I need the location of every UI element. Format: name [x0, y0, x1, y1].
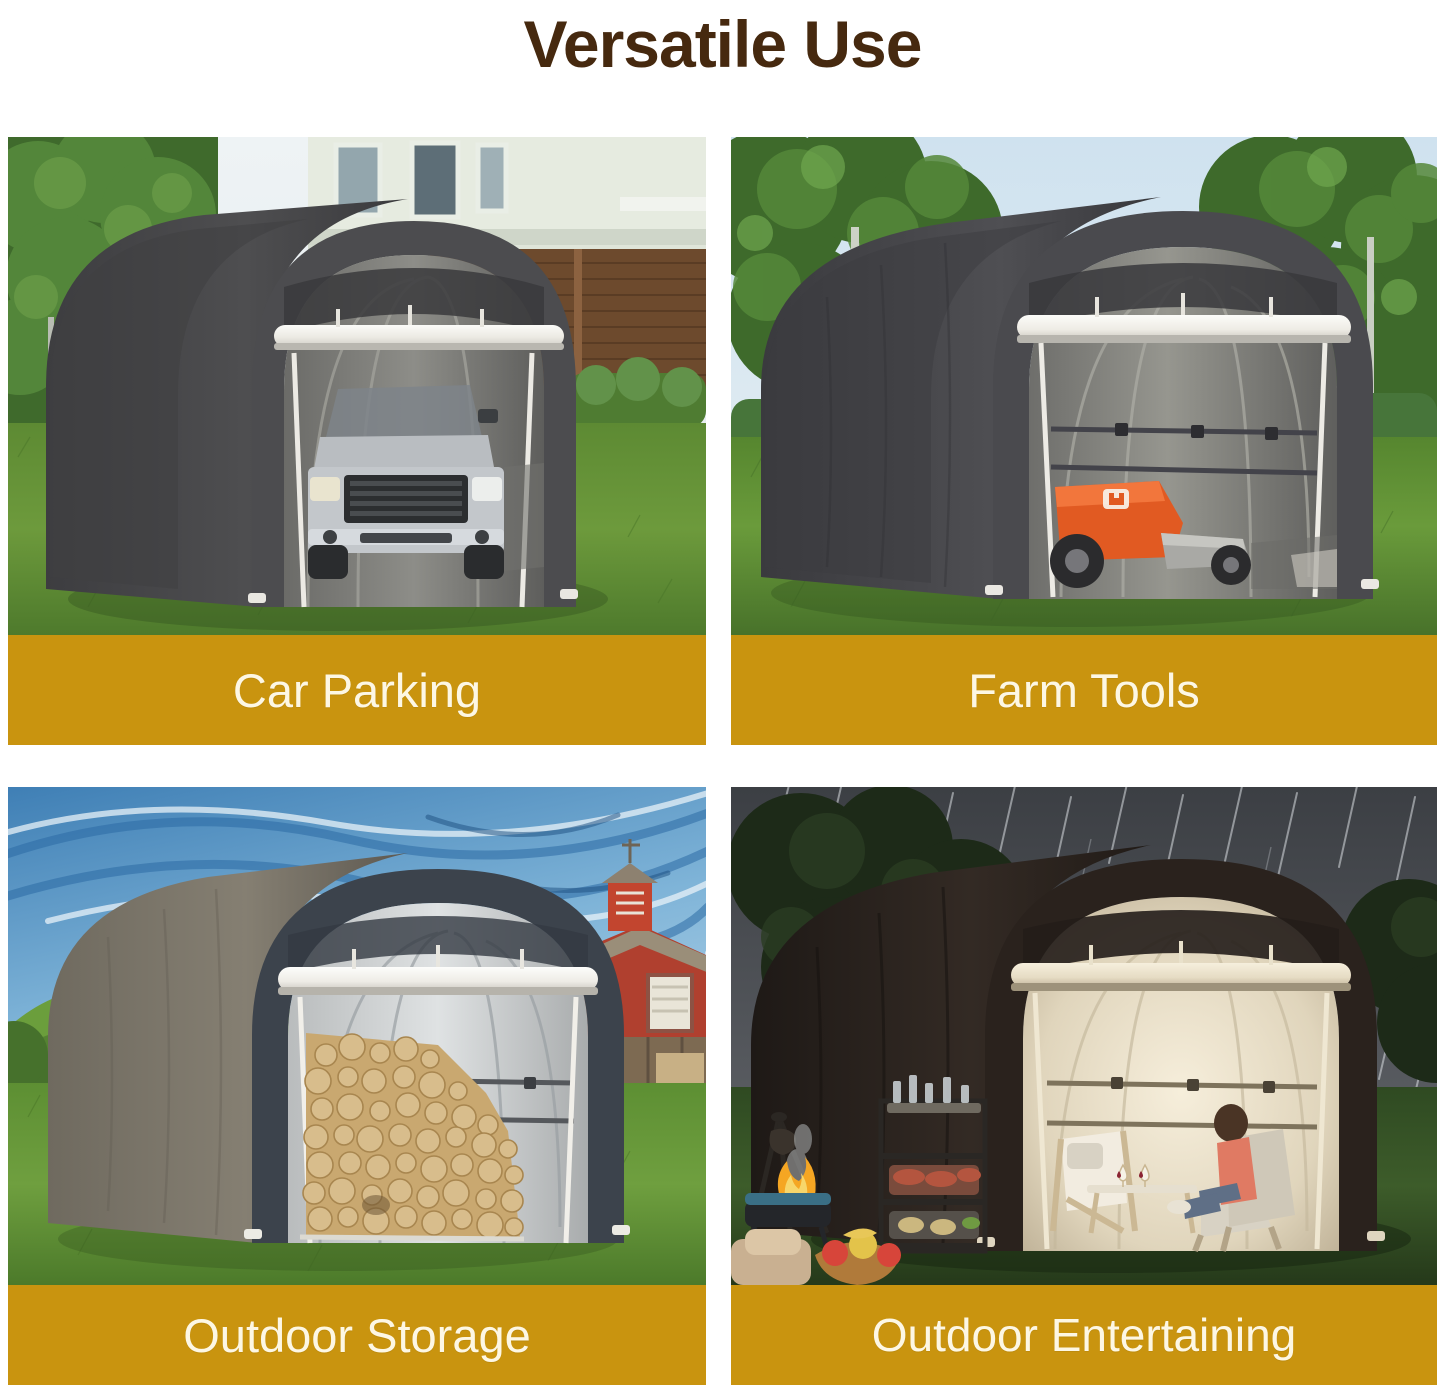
- panel-caption-outdoor-entertaining: Outdoor Entertaining: [731, 1285, 1437, 1385]
- panel-outdoor-storage[interactable]: Outdoor Storage: [8, 787, 706, 1385]
- panel-outdoor-entertaining[interactable]: Outdoor Entertaining: [731, 787, 1437, 1385]
- panel-image-farm-tools: [731, 137, 1437, 635]
- panel-image-outdoor-entertaining: [731, 787, 1437, 1285]
- panel-grid: Car Parking: [0, 137, 1445, 1387]
- panel-car-parking[interactable]: Car Parking: [8, 137, 706, 745]
- infographic-page: Versatile Use: [0, 0, 1445, 1392]
- panel-caption-outdoor-storage: Outdoor Storage: [8, 1285, 706, 1385]
- panel-image-outdoor-storage: [8, 787, 706, 1285]
- panel-farm-tools[interactable]: Farm Tools: [731, 137, 1437, 745]
- panel-caption-car-parking: Car Parking: [8, 635, 706, 745]
- panel-image-car-parking: [8, 137, 706, 635]
- panel-caption-farm-tools: Farm Tools: [731, 635, 1437, 745]
- page-title: Versatile Use: [0, 8, 1445, 81]
